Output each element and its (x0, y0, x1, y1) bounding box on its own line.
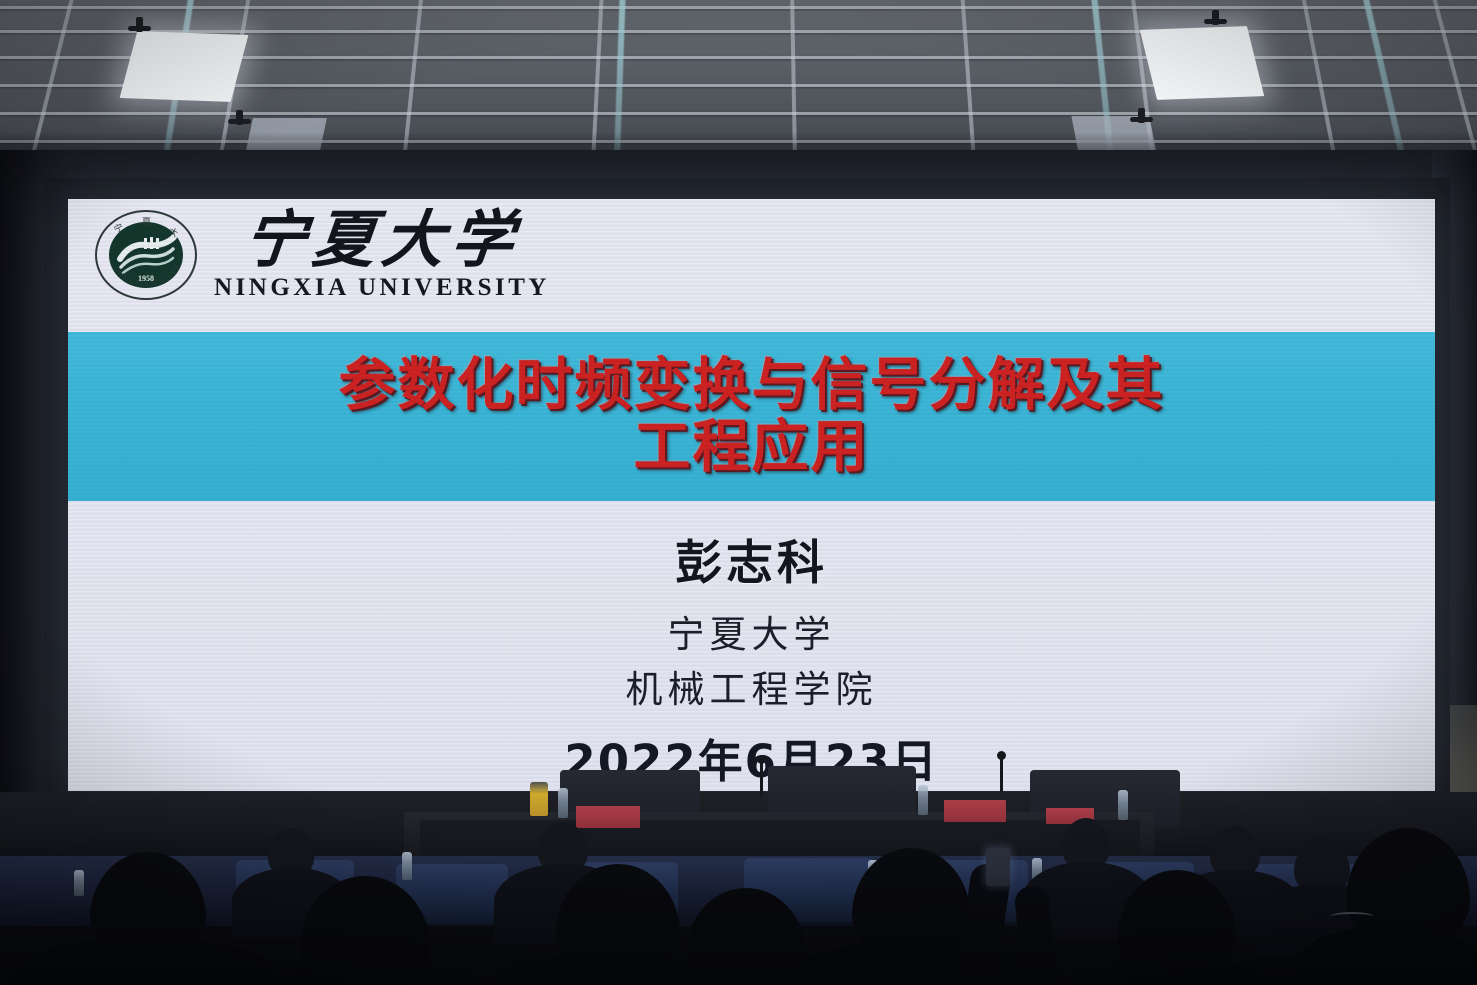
water-bottle (402, 852, 412, 880)
lecture-hall-photo: 1958 NINGXIA UNIVERSITY 宁 夏 大 宁夏大学 NINGX… (0, 0, 1477, 985)
water-bottle (74, 870, 84, 896)
slide-title-line-1: 参数化时频变换与信号分解及其 (339, 355, 1165, 417)
presentation-date: 2022年6月23日 (68, 725, 1435, 790)
sprinkler-head-icon (136, 17, 143, 32)
presentation-slide: 1958 NINGXIA UNIVERSITY 宁 夏 大 宁夏大学 NINGX… (68, 199, 1435, 791)
audience-shoulders (10, 938, 280, 985)
water-bottle (918, 785, 928, 815)
svg-text:夏: 夏 (142, 217, 151, 227)
bottle-yellow (530, 782, 548, 816)
audience-shoulders (1058, 962, 1306, 985)
audience-shoulders (790, 940, 1040, 985)
slide-header: 1958 NINGXIA UNIVERSITY 宁 夏 大 宁夏大学 NINGX… (92, 207, 550, 303)
glasses-icon (1330, 912, 1374, 921)
affiliation-university: 宁夏大学 (68, 604, 1435, 658)
slide-title-line-2: 工程应用 (634, 417, 870, 479)
sprinkler-head-icon (236, 110, 243, 125)
sprinkler-head-icon (1138, 108, 1145, 123)
ceiling-light-panel (120, 31, 249, 102)
university-wordmark: 宁夏大学 NINGXIA UNIVERSITY (214, 210, 550, 300)
audience (0, 812, 1477, 985)
ningxia-university-emblem-icon: 1958 NINGXIA UNIVERSITY 宁 夏 大 (92, 207, 200, 303)
sprinkler-head-icon (1212, 10, 1219, 25)
microphone-icon (760, 762, 763, 796)
university-name-en: NINGXIA UNIVERSITY (214, 275, 550, 300)
university-name-cn: 宁夏大学 (241, 210, 524, 272)
slide-title-band: 参数化时频变换与信号分解及其 工程应用 (68, 332, 1435, 501)
microphone-icon (1000, 758, 1003, 792)
smartphone-icon (986, 848, 1010, 886)
speaker-name: 彭志科 (68, 524, 1435, 593)
affiliation-school: 机械工程学院 (68, 659, 1435, 713)
ceiling-light-panel (1140, 26, 1264, 100)
